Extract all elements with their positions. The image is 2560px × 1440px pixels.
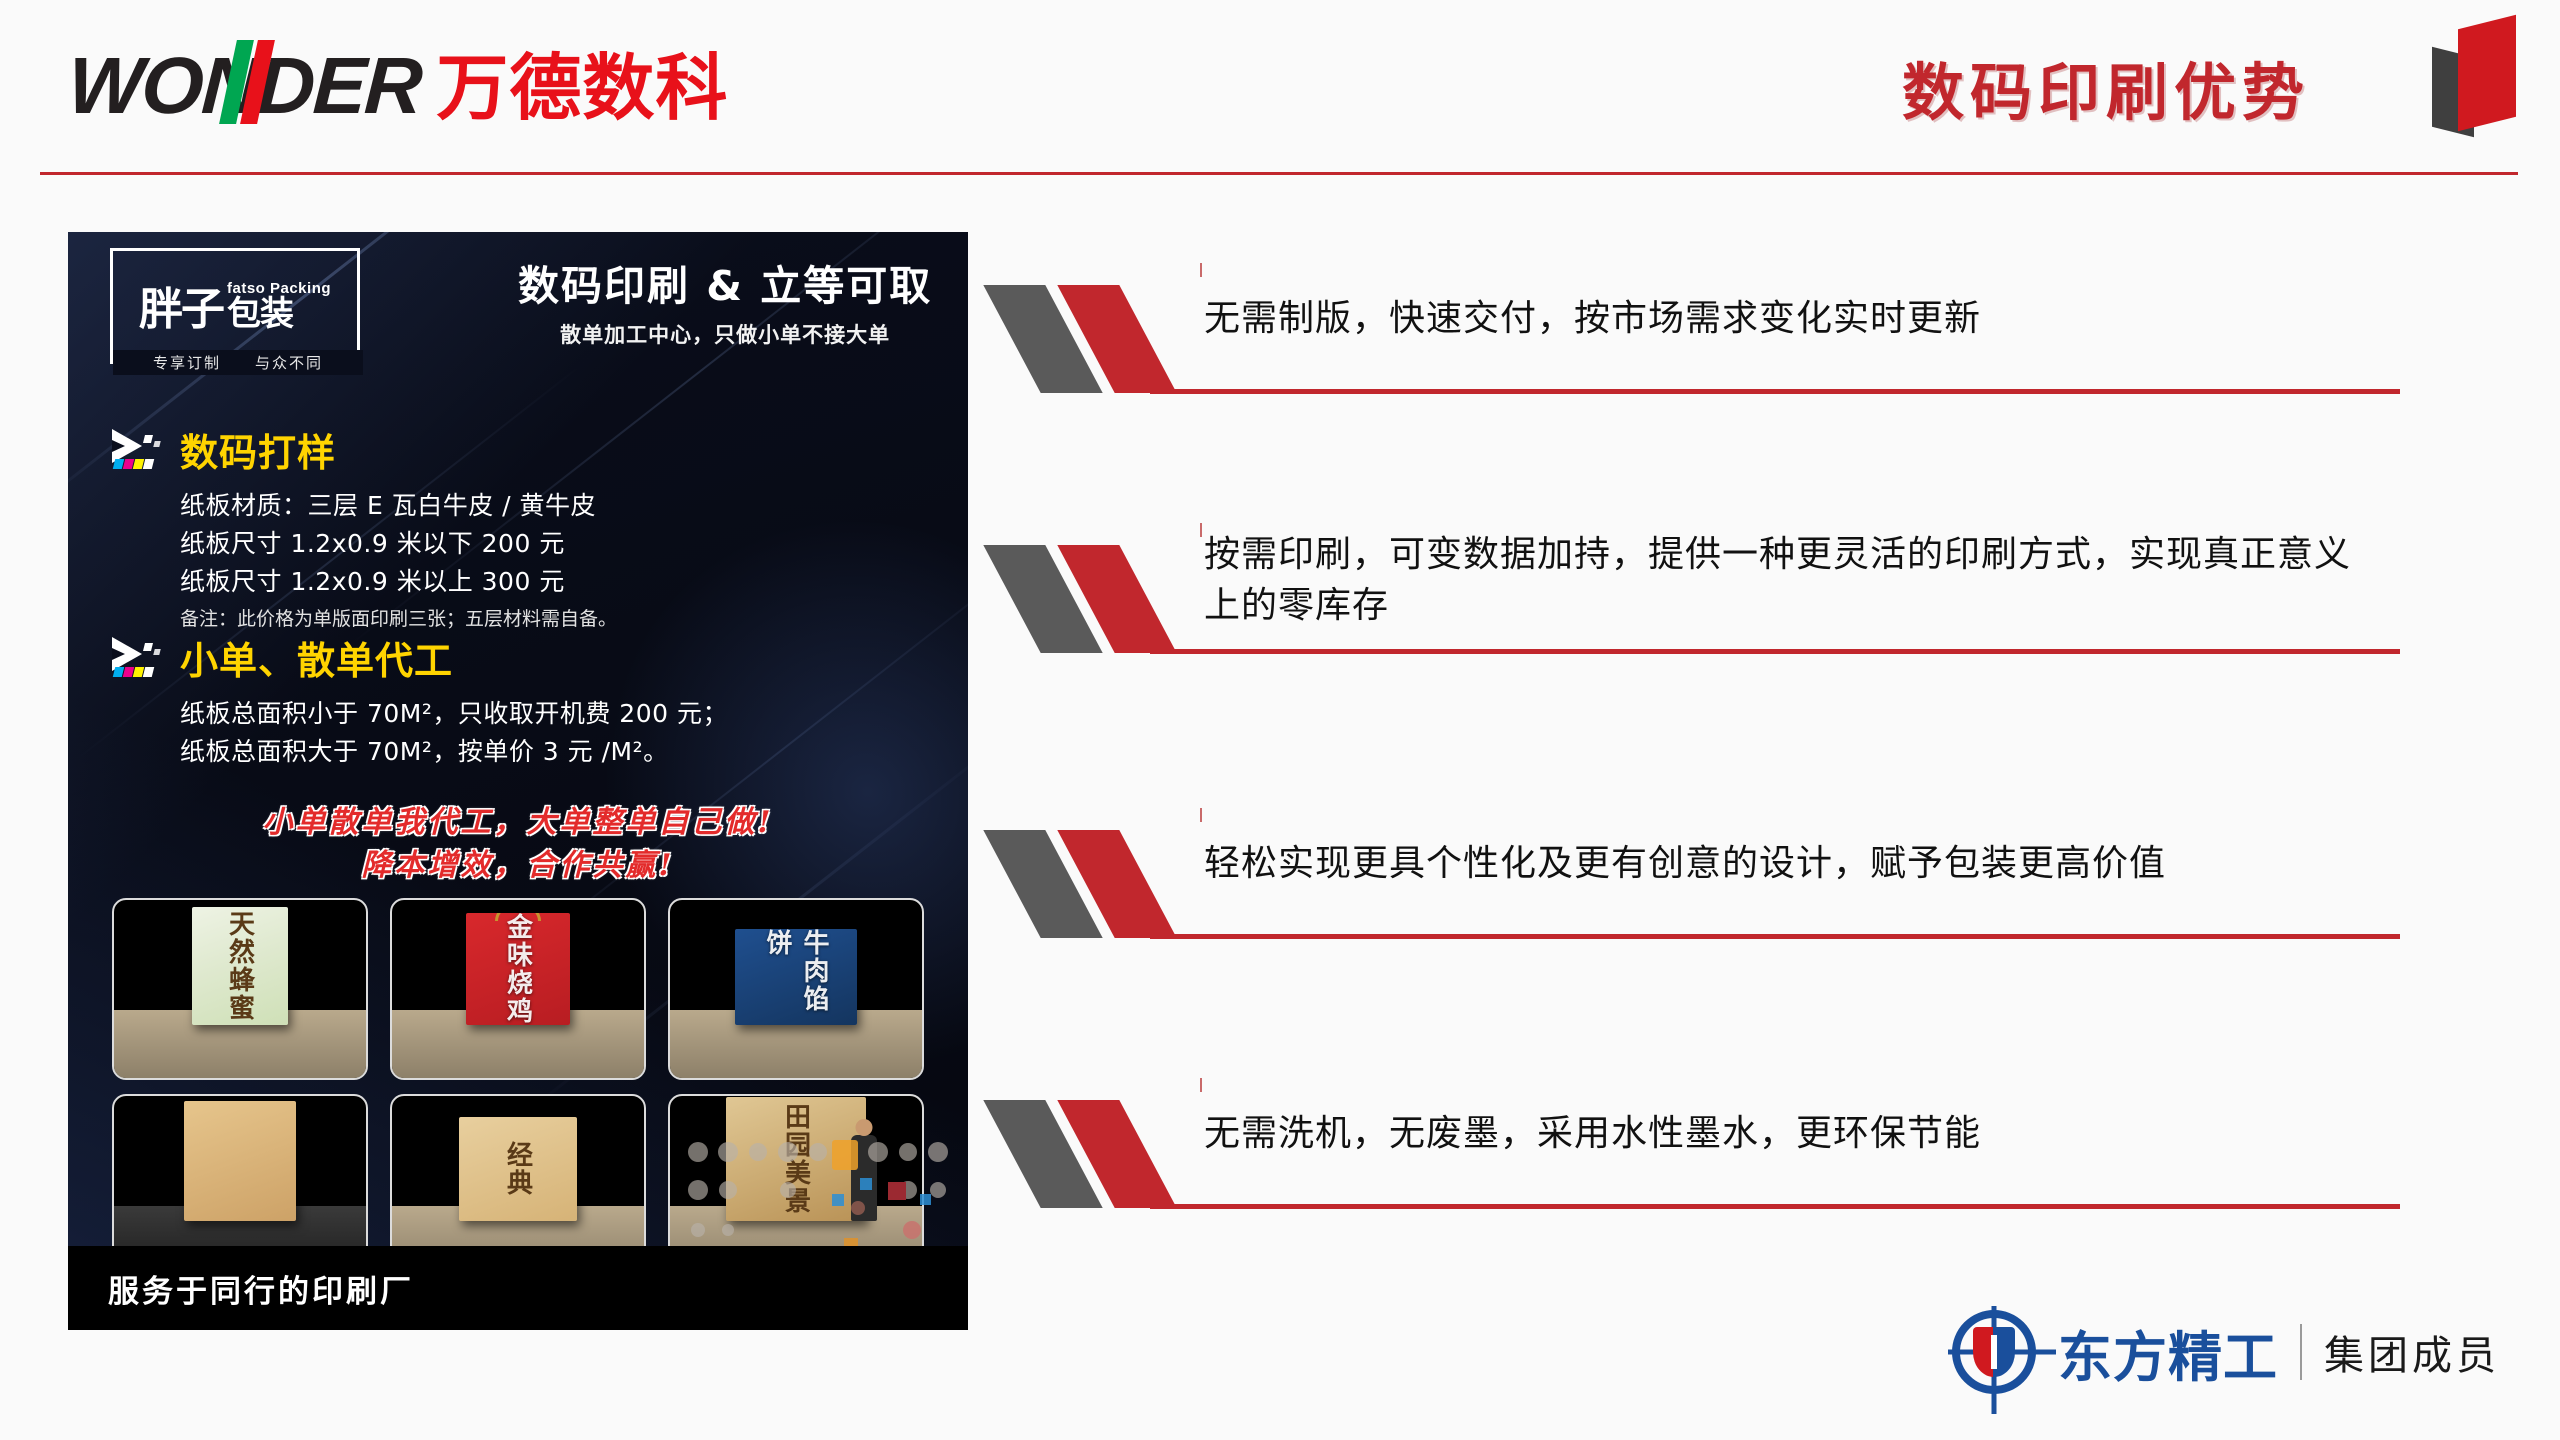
dongfang-emblem-icon: [1952, 1310, 2036, 1394]
advantage-underline: [1150, 649, 2400, 654]
group-member-logo: 东方精工 集团成员: [1952, 1310, 2500, 1394]
advantage-text: 无需制版，快速交付，按市场需求变化实时更新: [1204, 293, 2384, 344]
poster-header-row: 胖子 fatso Packing 包装 专享订制 与众不同 数码印刷 & 立等可…: [68, 232, 968, 380]
chevron-marker-icon: [1012, 1100, 1202, 1208]
fatso-tag-right: 与众不同: [255, 352, 323, 373]
fatso-logo-right: fatso Packing 包装: [227, 281, 331, 330]
product-photo: 金味烧鸡: [390, 898, 646, 1080]
chevron-marker-icon: [1012, 545, 1202, 653]
product-box-shape: 田园美景: [726, 1097, 866, 1221]
poster-section-body: 纸板材质：三层 E 瓦白牛皮 / 黄牛皮 纸板尺寸 1.2x0.9 米以下 20…: [180, 487, 938, 634]
corner-ribbon-red: [2458, 15, 2516, 131]
fatso-logo-main: 胖子 fatso Packing 包装: [139, 281, 331, 330]
slide-root: WONDER 万德数科 数码印刷优势 胖子 fatso Packing: [0, 0, 2560, 1440]
fatso-logo-cn2: 包装: [227, 298, 293, 330]
poster-slogan: 小单散单我代工，大单整单自己做! 降本增效，合作共赢!: [68, 802, 968, 887]
poster-headline-block: 数码印刷 & 立等可取 散单加工中心，只做小单不接大单: [518, 263, 932, 348]
bullet-tick-mark: [1200, 808, 1202, 822]
product-photo-label: 田园美景: [726, 1097, 866, 1221]
advantage-underline: [1150, 1204, 2400, 1209]
poster-footer-bar: 服务于同行的印刷厂: [68, 1246, 968, 1330]
product-box-shape: [184, 1101, 296, 1221]
bullet-tick-mark: [1200, 1078, 1202, 1092]
fatso-tag-left: 专享订制: [153, 352, 221, 373]
poster-section-line: 纸板材质：三层 E 瓦白牛皮 / 黄牛皮: [180, 487, 938, 525]
poster-section-header: 数码打样: [108, 422, 938, 477]
chevron-marker-icon: [1012, 285, 1202, 393]
footer-member-label: 集团成员: [2324, 1323, 2500, 1381]
advantage-underline: [1150, 934, 2400, 939]
poster-headline-sub: 散单加工中心，只做小单不接大单: [518, 319, 932, 349]
poster-footer-text: 服务于同行的印刷厂: [108, 1266, 414, 1311]
product-photo: 天然蜂蜜: [112, 898, 368, 1080]
product-box-shape: 经典: [459, 1117, 577, 1221]
advantages-list: 无需制版，快速交付，按市场需求变化实时更新 按需印刷，可变数据加持，提供一种更灵…: [1012, 0, 2432, 1440]
poster-slogan-line2: 降本增效，合作共赢!: [68, 845, 968, 888]
fatso-packing-logo: 胖子 fatso Packing 包装 专享订制 与众不同: [110, 248, 360, 364]
product-photo-label: 牛肉馅饼: [735, 929, 857, 1025]
advantage-text: 无需洗机，无废墨，采用水性墨水，更环保节能: [1204, 1108, 2384, 1159]
fatso-logo-taglines: 专享订制 与众不同: [113, 350, 363, 375]
poster-section-body: 纸板总面积小于 70M²，只收取开机费 200 元； 纸板总面积大于 70M²，…: [180, 695, 938, 771]
footer-divider: [2300, 1324, 2302, 1380]
product-photo-label: 经典: [459, 1117, 577, 1221]
fatso-logo-cn1: 胖子: [139, 289, 223, 331]
footer-company-name: 东方精工: [2058, 1313, 2278, 1392]
poster-headline: 数码印刷 & 立等可取: [518, 263, 932, 310]
poster-section-proofing: 数码打样 纸板材质：三层 E 瓦白牛皮 / 黄牛皮 纸板尺寸 1.2x0.9 米…: [108, 422, 938, 634]
poster-section-title: 数码打样: [180, 422, 336, 477]
poster-section-line: 纸板尺寸 1.2x0.9 米以上 300 元: [180, 563, 938, 601]
product-photo-grid: 天然蜂蜜 金味烧鸡 牛肉馅饼: [112, 898, 924, 1276]
product-photo: 牛肉馅饼: [668, 898, 924, 1080]
advantage-text: 按需印刷，可变数据加持，提供一种更灵活的印刷方式，实现真正意义上的零库存: [1204, 529, 2384, 631]
product-box-shape: 天然蜂蜜: [192, 907, 288, 1025]
poster-section-header: 小单、散单代工: [108, 630, 938, 685]
promo-poster-image: 胖子 fatso Packing 包装 专享订制 与众不同 数码印刷 & 立等可…: [68, 232, 968, 1330]
brand-wordmark-cn: 万德数科: [436, 52, 728, 124]
poster-section-line: 纸板尺寸 1.2x0.9 米以下 200 元: [180, 525, 938, 563]
emblem-shield: [1973, 1327, 2015, 1377]
product-photo-label: [184, 1101, 296, 1221]
poster-section-line: 纸板总面积小于 70M²，只收取开机费 200 元；: [180, 695, 938, 733]
cmyk-arrow-icon: [108, 635, 164, 681]
advantage-underline: [1150, 389, 2400, 394]
product-box-shape: 牛肉馅饼: [735, 929, 857, 1025]
bullet-tick-mark: [1200, 263, 1202, 277]
product-photo-label: 金味烧鸡: [466, 913, 570, 1025]
chevron-marker-icon: [1012, 830, 1202, 938]
product-box-shape: 金味烧鸡: [466, 913, 570, 1025]
person-silhouette-icon: [851, 1135, 877, 1221]
cmyk-arrow-icon: [108, 427, 164, 473]
brand-logo: WONDER 万德数科: [68, 46, 728, 126]
advantage-text: 轻松实现更具个性化及更有创意的设计，赋予包装更高价值: [1204, 838, 2384, 889]
bullet-tick-mark: [1200, 523, 1202, 537]
poster-slogan-line1: 小单散单我代工，大单整单自己做!: [68, 802, 968, 845]
poster-section-title: 小单、散单代工: [180, 630, 453, 685]
product-photo-label: 天然蜂蜜: [192, 907, 288, 1025]
poster-section-line: 纸板总面积大于 70M²，按单价 3 元 /M²。: [180, 733, 938, 771]
poster-section-small-orders: 小单、散单代工 纸板总面积小于 70M²，只收取开机费 200 元； 纸板总面积…: [108, 630, 938, 771]
